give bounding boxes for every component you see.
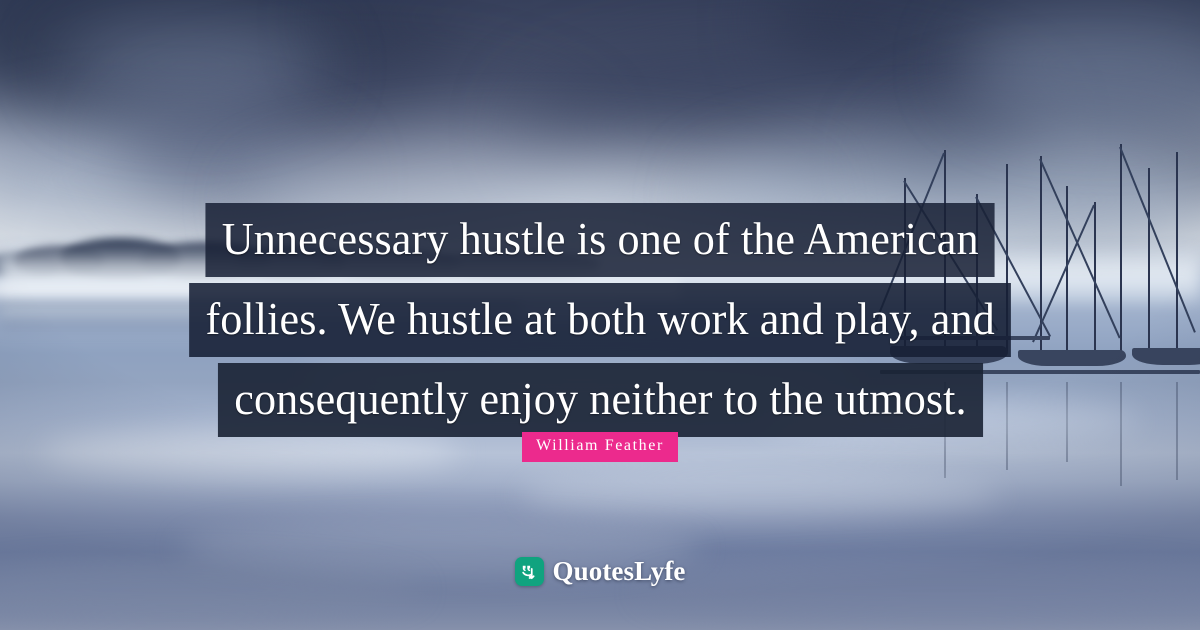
quote-card: Unnecessary hustle is one of the America… <box>0 0 1200 630</box>
brand-name: QuotesLyfe <box>553 556 686 587</box>
brand-logo[interactable]: QuotesLyfe <box>0 556 1200 587</box>
author-name-badge: William Feather <box>522 432 678 462</box>
quote-line: Unnecessary hustle is one of the America… <box>205 203 995 277</box>
quote-line: consequently enjoy neither to the utmost… <box>217 363 982 437</box>
quote-line: follies. We hustle at both work and play… <box>189 283 1011 357</box>
author-badge-container: William Feather <box>0 432 1200 462</box>
quote-smiley-icon <box>515 557 544 586</box>
quote-text-block: Unnecessary hustle is one of the America… <box>0 203 1200 443</box>
